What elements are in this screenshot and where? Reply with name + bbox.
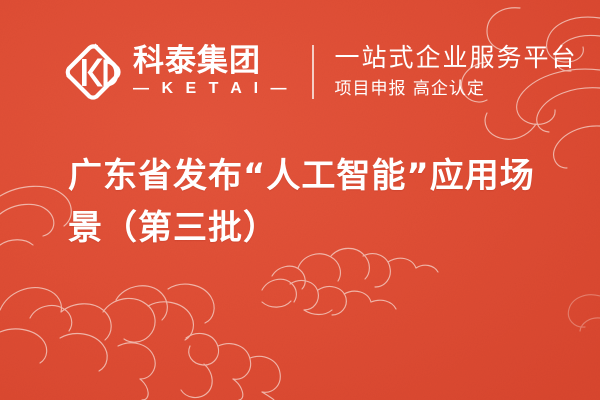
ketai-diamond-kd-logo-icon[interactable] xyxy=(62,41,124,103)
brand-name-cn: 科泰集团 xyxy=(133,46,290,78)
cloud-center-bottom xyxy=(262,248,438,315)
cloud-left-middle xyxy=(0,284,214,371)
cloud-right-lower xyxy=(568,295,600,331)
slogan-secondary: 项目申报 高企认定 xyxy=(334,79,577,99)
page-title: 广东省发布“人工智能”应用场景（第三批） xyxy=(68,150,546,254)
promo-banner: 科泰集团 — K E T A I — 一站式企业服务平台 项目申报 高企认定 广… xyxy=(0,0,600,400)
slogan-primary: 一站式企业服务平台 xyxy=(334,44,577,73)
brand-wordmark: 科泰集团 — K E T A I — xyxy=(133,41,290,103)
slogan-block: 一站式企业服务平台 项目申报 高企认定 xyxy=(334,41,577,103)
cloud-left-upper xyxy=(0,186,71,245)
brand-name-en: — K E T A I — xyxy=(133,80,290,98)
brand-header: 科泰集团 — K E T A I — 一站式企业服务平台 项目申报 高企认定 xyxy=(62,34,578,110)
cloud-tendril-lower-left xyxy=(118,333,280,400)
header-divider xyxy=(312,45,314,99)
